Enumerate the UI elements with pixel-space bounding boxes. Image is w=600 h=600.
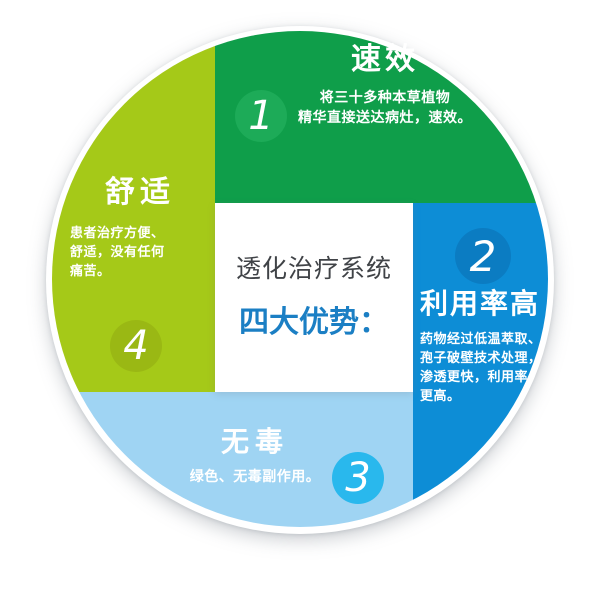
segment-li-yong-lv-gao-text: 利用率高 药物经过低温萃取、 孢子破壁技术处理， 渗透更快，利用率 更高。 <box>420 290 590 405</box>
segment-su-xiao-body: 将三十多种本草植物 精华直接送达病灶，速效。 <box>270 87 500 128</box>
segment-su-xiao-text: 速效 将三十多种本草植物 精华直接送达病灶，速效。 <box>270 45 500 128</box>
segment-li-yong-lv-gao-heading: 利用率高 <box>420 290 590 318</box>
segment-li-yong-lv-gao-number-badge: 2 <box>455 228 511 284</box>
segment-shu-shi-text: 舒适 患者治疗方便、 舒适，没有任何 痛苦。 <box>70 178 210 281</box>
segment-shu-shi-heading: 舒适 <box>70 178 210 208</box>
segment-wu-du-number-badge: 3 <box>332 452 384 504</box>
center-title-card: 透化治疗系统 四大优势： <box>215 203 413 392</box>
infographic-canvas: 透化治疗系统 四大优势： 速效 将三十多种本草植物 精华直接送达病灶，速效。 1… <box>0 0 600 600</box>
center-subtitle: 四大优势： <box>239 297 389 341</box>
segment-wu-du-body: 绿色、无毒副作用。 <box>155 466 355 486</box>
segment-shu-shi-body: 患者治疗方便、 舒适，没有任何 痛苦。 <box>70 224 210 281</box>
segment-shu-shi-number-badge: 4 <box>110 320 162 372</box>
center-title: 透化治疗系统 <box>236 254 392 285</box>
segment-su-xiao-heading: 速效 <box>270 45 500 75</box>
segment-wu-du-text: 无毒 绿色、无毒副作用。 <box>155 428 355 486</box>
segment-su-xiao-number-badge: 1 <box>235 90 287 142</box>
segment-wu-du-heading: 无毒 <box>155 428 355 456</box>
segment-li-yong-lv-gao-body: 药物经过低温萃取、 孢子破壁技术处理， 渗透更快，利用率 更高。 <box>420 330 590 405</box>
